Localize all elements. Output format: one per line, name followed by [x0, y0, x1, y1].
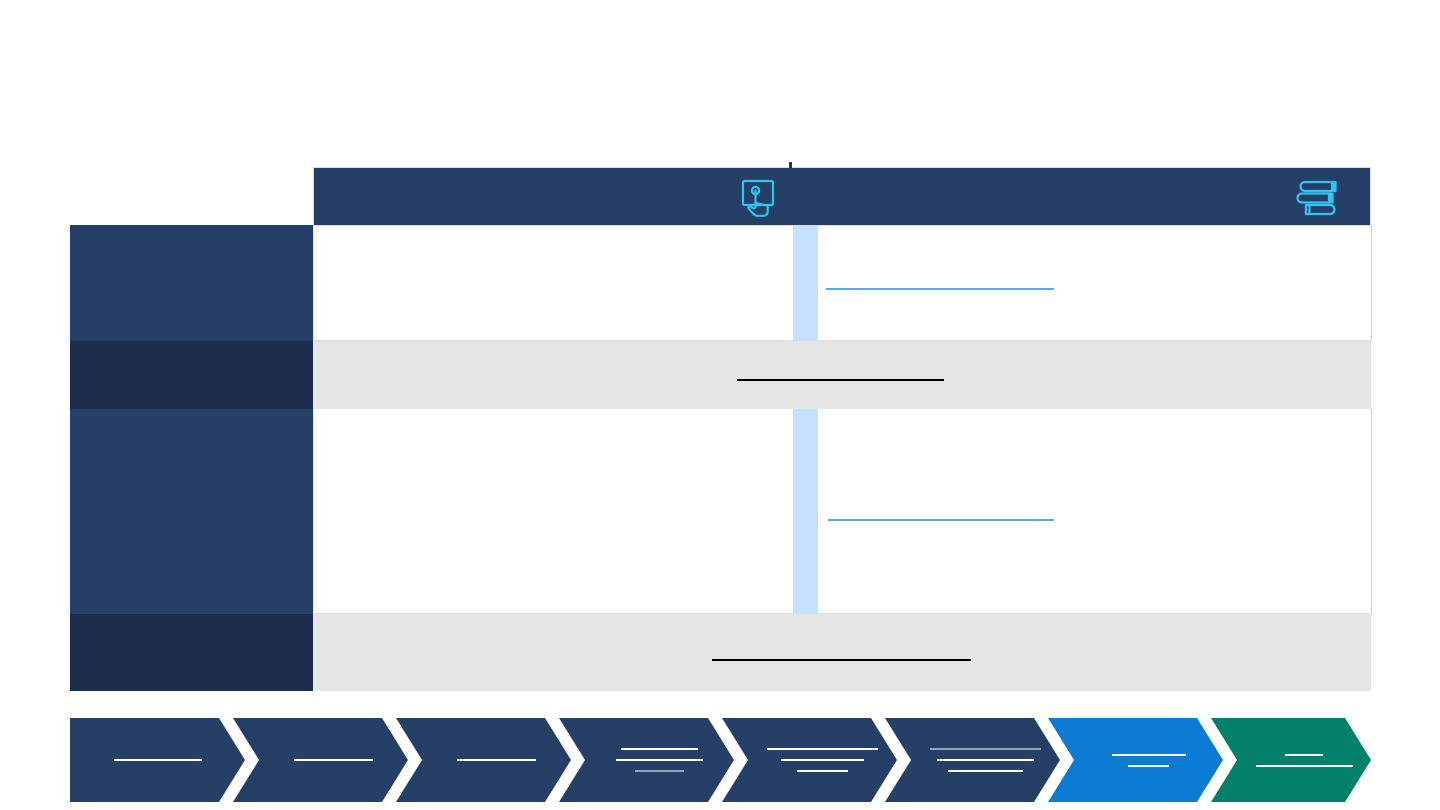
row-label-block-4[interactable] [70, 614, 313, 691]
screen-canvas [0, 0, 1440, 810]
process-step-4[interactable] [559, 718, 734, 802]
text-rule-row-4 [712, 659, 971, 661]
highlight-column-row-1 [793, 226, 818, 341]
row-label-block-2[interactable] [70, 341, 313, 409]
header-tick-marker [789, 162, 792, 168]
table-row-4[interactable] [313, 614, 1371, 691]
link-rule-row-1[interactable] [826, 288, 1054, 290]
process-step-5-text-line-1 [767, 748, 878, 750]
process-step-8-text-line-1 [1285, 754, 1323, 756]
process-step-5[interactable] [722, 718, 897, 802]
process-step-7[interactable] [1048, 718, 1223, 802]
process-step-5-text-line-2 [781, 759, 864, 761]
table-row-1[interactable] [313, 226, 1372, 341]
process-step-7-text-line-2 [1128, 765, 1169, 767]
process-step-1-text-line-1 [114, 759, 202, 761]
process-step-4-text-line-1 [621, 748, 698, 750]
process-step-6[interactable] [885, 718, 1060, 802]
text-rule-row-2 [737, 379, 944, 381]
process-step-2-text-line-1 [294, 759, 373, 761]
process-step-3-text-line-1 [457, 759, 536, 761]
process-step-5-text-line-3 [797, 770, 848, 772]
content-header-bar [313, 167, 1371, 226]
book-stack-icon[interactable] [1292, 174, 1344, 220]
process-step-2[interactable] [233, 718, 408, 802]
process-step-6-text-line-3 [948, 770, 1023, 772]
link-rule-row-3[interactable] [828, 519, 1054, 521]
process-step-7-text-line-1 [1112, 754, 1186, 756]
process-step-6-text-line-2 [937, 759, 1034, 761]
highlight-column-row-3 [793, 409, 818, 614]
process-step-8[interactable] [1211, 718, 1371, 802]
process-chevron-bar [70, 718, 1371, 802]
table-row-2[interactable] [313, 341, 1371, 409]
table-row-3[interactable] [313, 409, 1372, 614]
process-step-3[interactable] [396, 718, 571, 802]
row-label-block-1[interactable] [70, 225, 313, 341]
process-step-8-text-line-2 [1256, 765, 1353, 767]
process-step-1[interactable] [70, 718, 245, 802]
process-step-4-text-line-2 [616, 759, 703, 761]
row-label-block-3[interactable] [70, 409, 313, 614]
process-step-6-text-line-1 [930, 748, 1041, 750]
process-step-4-text-line-3 [635, 770, 684, 772]
touch-tap-icon[interactable] [735, 174, 781, 220]
